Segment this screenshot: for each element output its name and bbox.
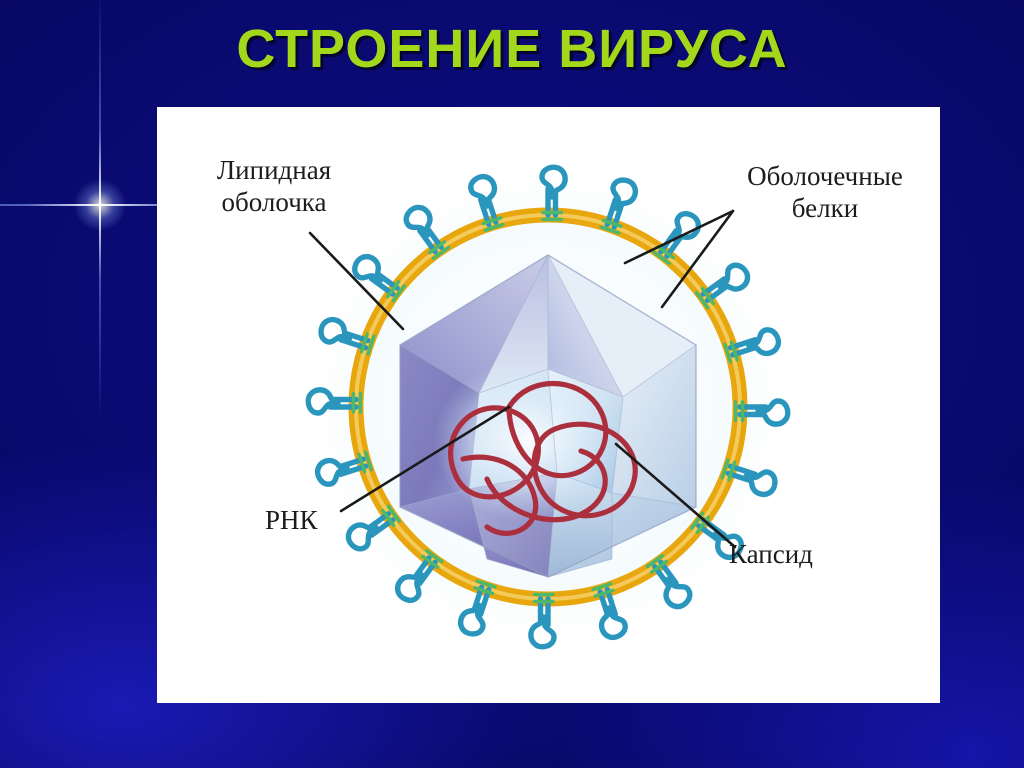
label-rna: РНК xyxy=(265,505,318,537)
label-envelope-proteins-line2: белки xyxy=(703,193,947,225)
label-capsid: Капсид xyxy=(729,539,813,571)
label-lipid-envelope-line2: оболочка xyxy=(171,187,377,219)
slide-title: СТРОЕНИЕ ВИРУСА xyxy=(0,18,1024,80)
label-rna-line1: РНК xyxy=(265,505,318,537)
slide-canvas: СТРОЕНИЕ ВИРУСА xyxy=(0,0,1024,768)
label-lipid-envelope-line1: Липидная xyxy=(171,155,377,187)
label-envelope-proteins-line1: Оболочечные xyxy=(703,161,947,193)
label-capsid-line1: Капсид xyxy=(729,539,813,571)
label-lipid-envelope: Липидная оболочка xyxy=(171,155,377,219)
label-envelope-proteins: Оболочечные белки xyxy=(703,161,947,225)
diagram-panel: Липидная оболочка Оболочечные белки РНК … xyxy=(157,107,940,703)
